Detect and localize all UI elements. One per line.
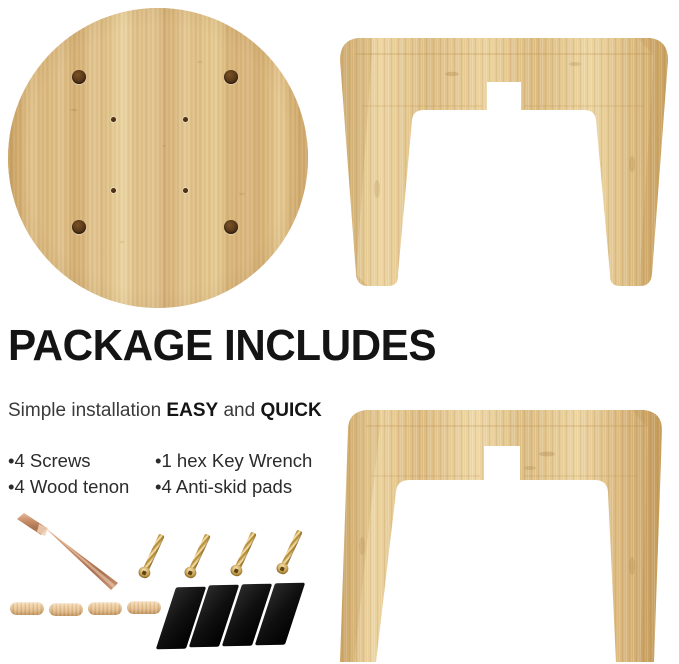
dowels-group bbox=[10, 598, 160, 628]
tabletop-pilot-hole bbox=[183, 117, 188, 122]
screw-part bbox=[227, 529, 261, 583]
contents-item-screws: •4 Screws bbox=[8, 448, 155, 474]
tagline-prefix: Simple installation bbox=[8, 400, 166, 421]
wood-dowel-part bbox=[88, 602, 122, 615]
tagline-emphasis-quick: QUICK bbox=[260, 400, 321, 421]
wood-dowel-part bbox=[127, 601, 161, 614]
product-package-includes-image: PACKAGE INCLUDES Simple installation EAS… bbox=[0, 0, 679, 664]
tabletop-wood-surface bbox=[8, 8, 308, 308]
screws-group bbox=[130, 528, 320, 588]
leg-frame-upper-part bbox=[332, 24, 676, 304]
contents-list: •4 Screws •1 hex Key Wrench •4 Wood teno… bbox=[8, 448, 338, 500]
tabletop-pilot-hole bbox=[183, 188, 188, 193]
list-item: •4 Wood tenon •4 Anti-skid pads bbox=[8, 474, 338, 500]
tabletop-dowel-hole bbox=[72, 220, 86, 234]
tabletop-dowel-hole bbox=[72, 70, 86, 84]
tagline-emphasis-easy: EASY bbox=[166, 400, 218, 421]
list-item: •4 Screws •1 hex Key Wrench bbox=[8, 448, 338, 474]
contents-item-anti-skid-pads: •4 Anti-skid pads bbox=[155, 474, 292, 500]
screw-part bbox=[181, 531, 215, 585]
screw-part bbox=[135, 531, 169, 585]
tabletop-pilot-hole bbox=[111, 117, 116, 122]
contents-item-wood-tenon: •4 Wood tenon bbox=[8, 474, 155, 500]
tabletop-pilot-hole bbox=[111, 188, 116, 193]
tagline: Simple installation EASY and QUICK bbox=[8, 400, 322, 422]
tagline-middle: and bbox=[218, 400, 260, 421]
leg-frame-lower-part bbox=[332, 396, 679, 664]
wood-dowel-part bbox=[49, 603, 83, 616]
screw-part bbox=[273, 527, 307, 581]
tabletop-part bbox=[8, 8, 308, 308]
tabletop-dowel-hole bbox=[224, 220, 238, 234]
contents-item-wrench: •1 hex Key Wrench bbox=[155, 448, 312, 474]
anti-skid-pads-group bbox=[160, 583, 320, 655]
wood-dowel-part bbox=[10, 602, 44, 615]
page-title: PACKAGE INCLUDES bbox=[8, 324, 436, 368]
tabletop-dowel-hole bbox=[224, 70, 238, 84]
hex-wrench-part bbox=[14, 512, 134, 592]
